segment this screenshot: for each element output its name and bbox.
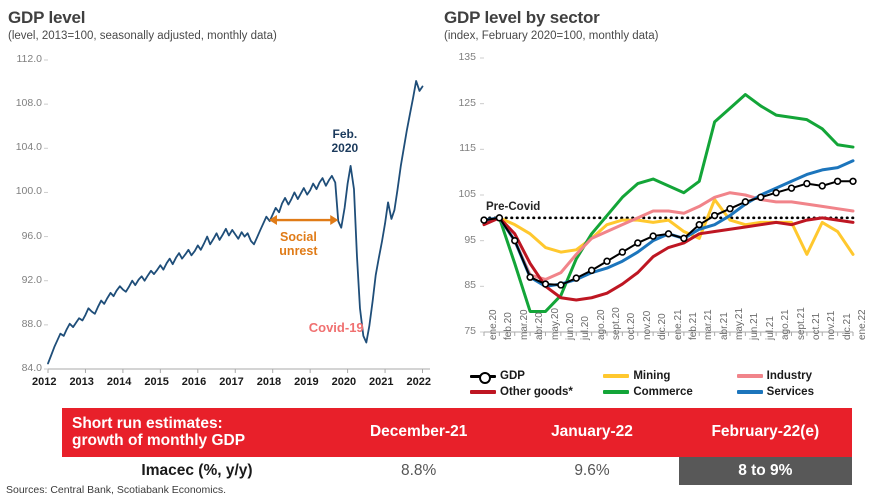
left-x-axis-tick: 2017 [219, 376, 243, 388]
right-x-axis-tick: mar.20 [519, 309, 530, 340]
imacec-december-21-value: 8.8% [332, 457, 505, 485]
legend-swatch-icon [470, 390, 496, 394]
left-x-axis-tick: 2014 [107, 376, 131, 388]
left-y-axis-tick: 92.0 [0, 274, 42, 286]
right-x-axis-tick: feb.20 [503, 312, 514, 340]
series-marker-gdp [681, 235, 687, 241]
right-x-axis-tick: jul.20 [580, 316, 591, 340]
imacec-february-22e-value: 8 to 9% [679, 457, 852, 485]
sources-note: Sources: Central Bank, Scotiabank Econom… [6, 484, 226, 496]
right-x-axis-tick: may.21 [734, 308, 745, 340]
legend-swatch-icon [603, 390, 629, 394]
table-header-title-line1: Short run estimates: [72, 415, 245, 432]
legend-label: Other goods* [500, 386, 573, 398]
legend-swatch-icon [737, 374, 763, 378]
left-y-axis-tick: 100.0 [0, 185, 42, 197]
right-y-axis-tick: 115 [436, 142, 476, 154]
left-y-axis-tick: 112.0 [0, 53, 42, 65]
legend-item-commerce[interactable]: Commerce [603, 384, 736, 400]
right-y-axis-tick: 95 [436, 234, 476, 246]
right-x-axis-tick: abr.20 [534, 312, 545, 340]
legend-swatch-icon [737, 390, 763, 394]
right-y-axis-tick: 135 [436, 51, 476, 63]
table-header-december-21: December-21 [332, 408, 505, 457]
legend-swatch-icon [603, 374, 629, 378]
series-marker-gdp [543, 281, 549, 287]
series-marker-gdp [758, 194, 764, 200]
series-marker-gdp [727, 206, 733, 212]
left-x-axis-tick: 2018 [257, 376, 281, 388]
right-x-axis-tick: nov.21 [826, 311, 837, 340]
series-marker-gdp [850, 178, 856, 184]
series-marker-gdp [619, 249, 625, 255]
right-x-axis-tick: jun.20 [565, 313, 576, 340]
left-y-axis-tick: 96.0 [0, 230, 42, 242]
right-x-axis-tick: ene.21 [673, 309, 684, 340]
table-row: Imacec (%, y/y) 8.8% 9.6% 8 to 9% [62, 457, 852, 485]
series-marker-gdp [819, 183, 825, 189]
right-y-axis-tick: 125 [436, 97, 476, 109]
right-y-axis-tick: 75 [436, 325, 476, 337]
table-header-title: Short run estimates: growth of monthly G… [62, 408, 332, 457]
gdp-level-svg [0, 52, 436, 397]
legend-swatch-icon [470, 375, 496, 378]
right-x-axis-tick: oct.20 [626, 313, 637, 340]
series-marker-gdp [604, 258, 610, 264]
table-header-february-22e: February-22(e) [679, 408, 852, 457]
series-marker-gdp [742, 199, 748, 205]
series-marker-gdp [773, 190, 779, 196]
legend-item-mining[interactable]: Mining [603, 368, 736, 384]
covid-19-annotation: Covid-19 [309, 320, 364, 335]
right-x-axis-tick: feb.21 [688, 312, 699, 340]
left-y-axis-tick: 104.0 [0, 141, 42, 153]
right-x-axis-tick: dic.21 [842, 313, 853, 340]
table-header-january-22: January-22 [505, 408, 678, 457]
gdp-level-line [48, 81, 423, 364]
table-header-title-line2: growth of monthly GDP [72, 432, 245, 449]
series-marker-gdp [835, 178, 841, 184]
right-x-axis-tick: dic.20 [657, 313, 668, 340]
table-header-row: Short run estimates: growth of monthly G… [62, 408, 852, 457]
right-x-axis-tick: may.20 [550, 308, 561, 340]
series-marker-gdp [512, 238, 518, 244]
left-chart-subtitle: (level, 2013=100, seasonally adjusted, m… [8, 30, 436, 42]
legend-item-services[interactable]: Services [737, 384, 870, 400]
short-run-estimates-table: Short run estimates: growth of monthly G… [62, 408, 852, 485]
series-marker-gdp [789, 185, 795, 191]
left-y-axis-tick: 88.0 [0, 318, 42, 330]
right-x-axis-tick: jul.21 [765, 316, 776, 340]
right-y-axis-tick: 105 [436, 188, 476, 200]
left-x-axis-tick: 2019 [294, 376, 318, 388]
series-marker-gdp [804, 181, 810, 187]
gdp-by-sector-svg [436, 52, 871, 342]
social-unrest-annotation: Socialunrest [279, 230, 317, 259]
row-label-imacec: Imacec (%, y/y) [62, 457, 332, 485]
left-x-axis-tick: 2013 [69, 376, 93, 388]
right-y-axis-tick: 85 [436, 279, 476, 291]
left-y-axis-tick: 108.0 [0, 97, 42, 109]
imacec-january-22-value: 9.6% [505, 457, 678, 485]
right-x-axis-tick: sept.21 [796, 307, 807, 340]
pre-covid-label: Pre-Covid [486, 201, 540, 213]
series-marker-gdp [650, 233, 656, 239]
right-x-axis-tick: sept.20 [611, 307, 622, 340]
legend-label: Services [767, 386, 814, 398]
legend-item-industry[interactable]: Industry [737, 368, 870, 384]
right-x-axis-tick: ene.22 [857, 309, 868, 340]
series-marker-gdp [696, 222, 702, 228]
right-x-axis-tick: ago.20 [596, 309, 607, 340]
legend-label: Industry [767, 370, 812, 382]
feb-2020-annotation: Feb.2020 [331, 128, 358, 156]
right-x-axis-tick: jun.21 [749, 313, 760, 340]
series-marker-gdp [527, 274, 533, 280]
gdp-by-sector-plot: 758595105115125135ene.20feb.20mar.20abr.… [436, 52, 871, 342]
right-chart-subtitle: (index, February 2020=100, monthly data) [444, 30, 871, 42]
legend-label: Commerce [633, 386, 692, 398]
left-x-axis-tick: 2016 [182, 376, 206, 388]
left-y-axis-tick: 84.0 [0, 362, 42, 374]
series-marker-gdp [666, 231, 672, 237]
left-x-axis-tick: 2020 [332, 376, 356, 388]
series-marker-gdp [635, 240, 641, 246]
gdp-level-panel: GDP level (level, 2013=100, seasonally a… [0, 0, 436, 400]
gdp-level-plot: 84.088.092.096.0100.0104.0108.0112.02012… [0, 52, 436, 397]
legend-item-gdp[interactable]: GDP [470, 368, 603, 384]
left-x-axis-tick: 2022 [407, 376, 431, 388]
series-marker-gdp [712, 213, 718, 219]
legend-label: Mining [633, 370, 670, 382]
series-marker-gdp [481, 217, 487, 223]
series-marker-gdp [496, 215, 502, 221]
social-unrest-arrow [269, 215, 338, 225]
series-marker-gdp [558, 282, 564, 288]
legend-item-other-goods[interactable]: Other goods* [470, 384, 603, 400]
left-x-axis-tick: 2012 [32, 376, 56, 388]
gdp-by-sector-panel: GDP level by sector (index, February 202… [436, 0, 871, 400]
sector-legend: GDPMiningIndustryOther goods*CommerceSer… [470, 368, 870, 400]
left-x-axis-tick: 2015 [144, 376, 168, 388]
series-marker-gdp [589, 267, 595, 273]
right-x-axis-tick: ene.20 [488, 309, 499, 340]
right-x-axis-tick: oct.21 [811, 313, 822, 340]
right-x-axis-tick: nov.20 [642, 311, 653, 340]
right-x-axis-tick: abr.21 [719, 312, 730, 340]
left-x-axis-tick: 2021 [369, 376, 393, 388]
left-chart-title: GDP level [8, 8, 436, 28]
right-chart-title: GDP level by sector [444, 8, 871, 28]
right-x-axis-tick: mar.21 [703, 309, 714, 340]
right-x-axis-tick: ago.21 [780, 309, 791, 340]
legend-label: GDP [500, 370, 525, 382]
series-marker-gdp [573, 275, 579, 281]
